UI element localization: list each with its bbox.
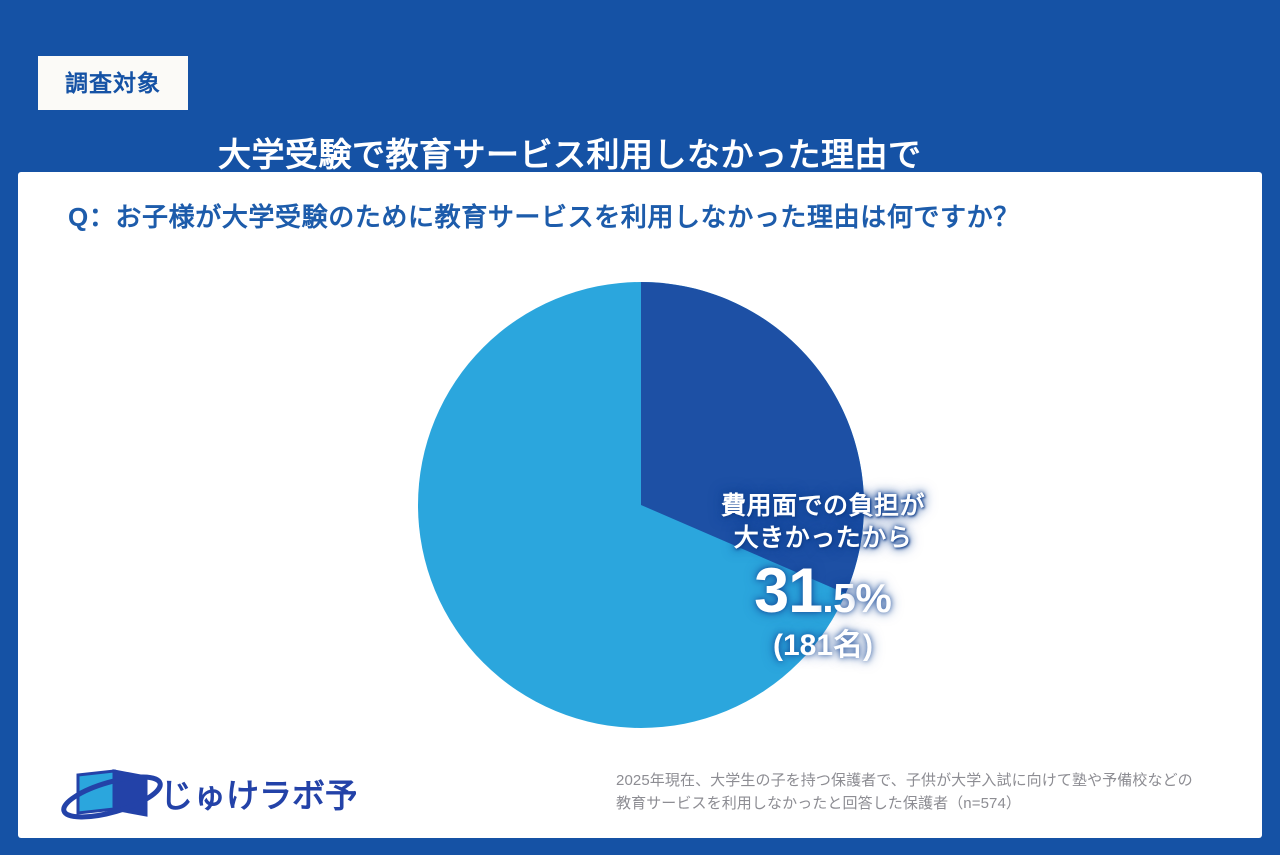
footnote-line-2: 教育サービスを利用しなかったと回答した保護者（n=574） [616, 793, 1266, 816]
survey-target-badge: 調査対象 [38, 56, 188, 110]
footnote-line-1: 2025年現在、大学生の子を持つ保護者で、子供が大学入試に向けて塾や予備校などの [616, 770, 1266, 793]
survey-target-badge-label: 調査対象 [65, 72, 161, 95]
pie-chart-svg [418, 282, 864, 728]
footnote: 2025年現在、大学生の子を持つ保護者で、子供が大学入試に向けて塾や予備校などの… [616, 770, 1266, 815]
brand-logo: じゅけラボ予備校 [56, 765, 356, 821]
question-title: Q：お子様が大学受験のために教育サービスを利用しなかった理由は何ですか？ [68, 202, 1020, 233]
content-card: Q：お子様が大学受験のために教育サービスを利用しなかった理由は何ですか？ 費用面… [18, 172, 1262, 838]
header-band: 調査対象 大学受験で教育サービス利用しなかった理由で 「費用面での負担が大きかっ… [0, 0, 1280, 172]
brand-logo-svg: じゅけラボ予備校 [56, 765, 356, 821]
brand-logo-text: じゅけラボ予備校 [160, 777, 356, 814]
pie-chart [418, 282, 864, 728]
